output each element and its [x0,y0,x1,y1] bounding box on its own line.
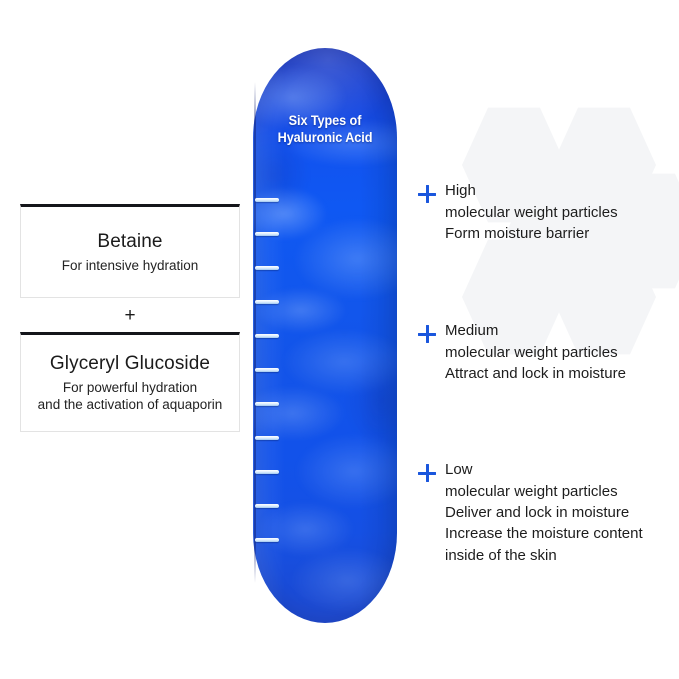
feature-line: Form moisture barrier [445,223,679,244]
ingredient-name: Glyceryl Glucoside [50,352,210,376]
feature-heading: Medium [445,321,679,342]
feature-line: molecular weight particles [445,202,679,223]
feature-line: inside of the skin [445,545,679,566]
ruler-tick [255,504,279,508]
feature-line: Deliver and lock in moisture [445,502,679,523]
ruler-tick [255,334,279,338]
feature-item-high: High molecular weight particles Form moi… [416,181,679,244]
capsule-title: Six Types of Hyaluronic Acid [257,113,392,147]
ingredient-card-glyceryl-glucoside: Glyceryl Glucoside For powerful hydratio… [20,332,240,432]
ruler-tick [255,368,279,372]
features-panel: High molecular weight particles Form moi… [416,0,679,679]
feature-text: High molecular weight particles Form moi… [445,181,679,244]
ingredient-description: For intensive hydration [62,257,199,275]
feature-item-low: Low molecular weight particles Deliver a… [416,460,679,566]
ingredient-name: Betaine [97,230,162,254]
ruler-tick [255,232,279,236]
ruler-tick [255,436,279,440]
plus-icon [416,183,438,205]
ingredient-plus-separator: + [20,298,240,332]
ingredient-card-betaine: Betaine For intensive hydration [20,204,240,298]
ruler-tick [255,198,279,202]
capsule-title-line-1: Six Types of [257,113,392,130]
feature-text: Low molecular weight particles Deliver a… [445,460,679,566]
ruler-tick [255,470,279,474]
ingredients-panel: Betaine For intensive hydration + Glycer… [20,204,240,432]
capsule-title-line-2: Hyaluronic Acid [257,130,392,147]
infographic-canvas: Betaine For intensive hydration + Glycer… [0,0,679,679]
ruler-tick [255,300,279,304]
ruler-tick [255,402,279,406]
feature-text: Medium molecular weight particles Attrac… [445,321,679,384]
ruler-tick [255,538,279,542]
plus-icon [416,323,438,345]
feature-item-medium: Medium molecular weight particles Attrac… [416,321,679,384]
feature-heading: Low [445,460,679,481]
feature-line: Attract and lock in moisture [445,363,679,384]
plus-icon [416,462,438,484]
feature-line: molecular weight particles [445,481,679,502]
feature-heading: High [445,181,679,202]
hyaluronic-acid-capsule: Six Types of Hyaluronic Acid [253,48,397,623]
ruler-tick [255,266,279,270]
ingredient-description-line2: and the activation of aquaporin [38,396,223,414]
feature-line: molecular weight particles [445,342,679,363]
feature-line: Increase the moisture content [445,523,679,544]
ingredient-description: For powerful hydration [63,379,197,397]
